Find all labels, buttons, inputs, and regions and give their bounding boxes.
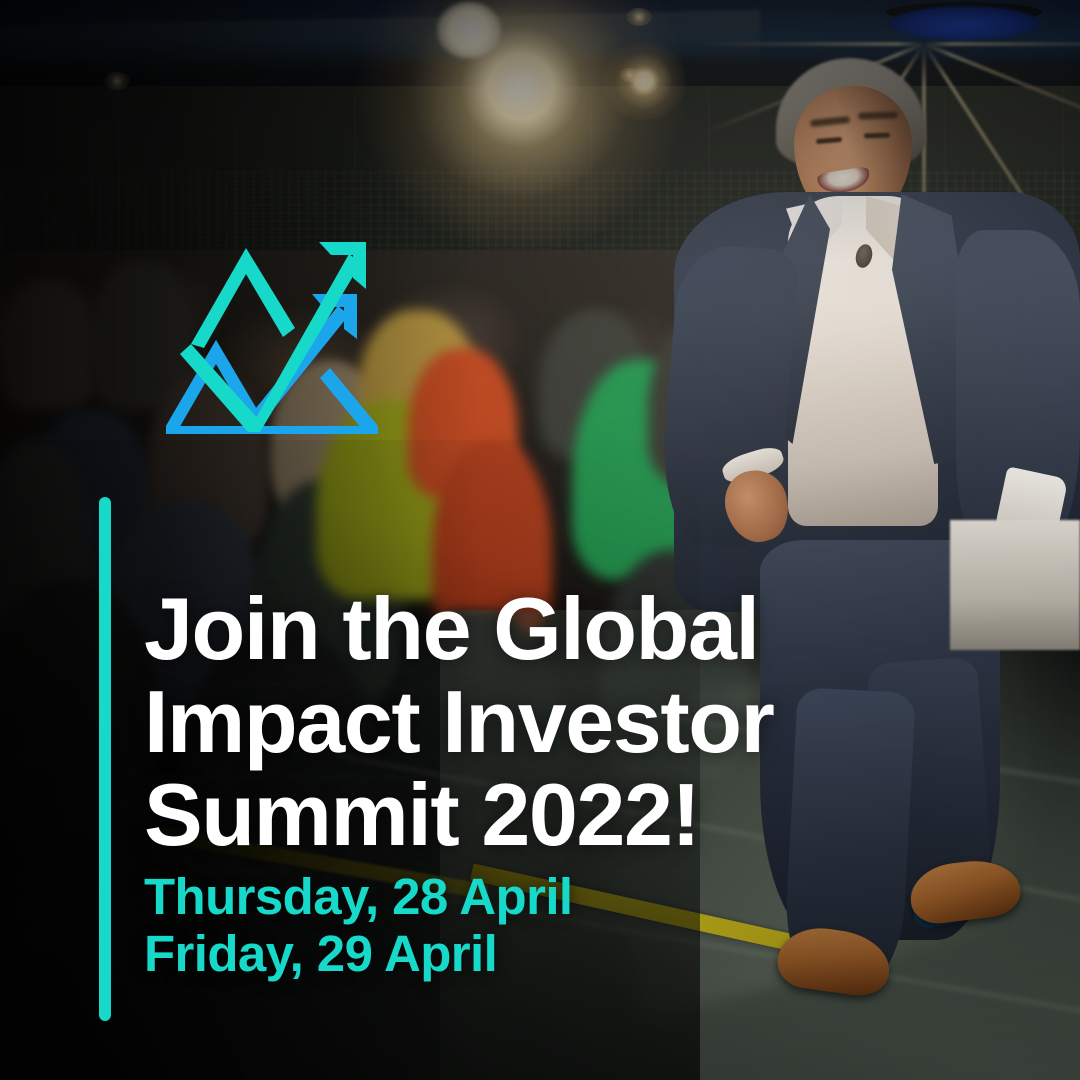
accent-bar	[99, 497, 111, 1021]
headline-line-2: Impact Investor	[144, 675, 994, 768]
event-promo-poster: Join the Global Impact Investor Summit 2…	[0, 0, 1080, 1080]
date-line-2: Friday, 29 April	[144, 925, 904, 982]
headline-line-3: Summit 2022!	[144, 768, 994, 861]
logo-teal-mark	[180, 242, 366, 432]
page-title: Join the Global Impact Investor Summit 2…	[144, 582, 994, 861]
event-dates: Thursday, 28 April Friday, 29 April	[144, 868, 904, 982]
date-line-1: Thursday, 28 April	[144, 868, 904, 925]
headline-line-1: Join the Global	[144, 582, 994, 675]
growth-mountain-arrow-logo	[152, 236, 392, 476]
